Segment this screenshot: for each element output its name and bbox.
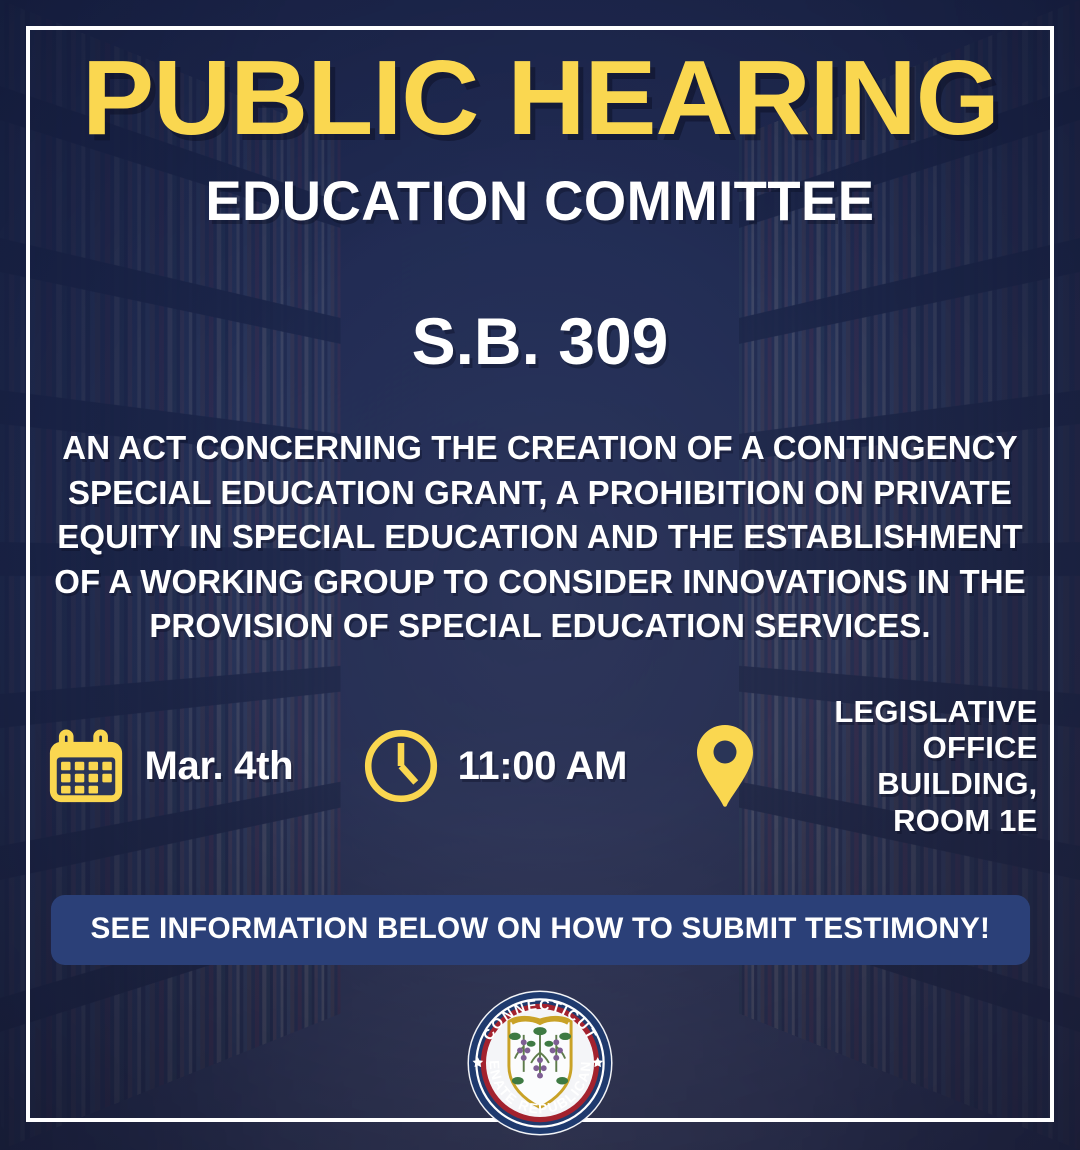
calendar-icon [43, 723, 129, 809]
event-date: Mar. 4th [43, 723, 294, 809]
seal-graphic: CONNECTICUT SENATE REPUBLICANS [466, 989, 614, 1137]
bill-description: AN ACT CONCERNING THE CREATION OF A CONT… [48, 427, 1033, 650]
event-time-value: 11:00 AM [458, 744, 628, 789]
event-time: 11:00 AM [360, 725, 628, 807]
testimony-banner: SEE INFORMATION BELOW ON HOW TO SUBMIT T… [51, 895, 1030, 965]
page-title: PUBLIC HEARING [82, 44, 999, 152]
event-location-value: LEGISLATIVE OFFICE BUILDING, ROOM 1E [772, 694, 1038, 839]
event-location: LEGISLATIVE OFFICE BUILDING, ROOM 1E [694, 694, 1038, 839]
bill-number: S.B. 309 [412, 303, 669, 379]
ct-senate-republicans-seal: CONNECTICUT SENATE REPUBLICANS [466, 989, 614, 1142]
committee-subtitle: EDUCATION COMMITTEE [205, 168, 874, 233]
event-date-value: Mar. 4th [145, 744, 294, 789]
clock-icon [360, 725, 442, 807]
public-hearing-poster: PUBLIC HEARING EDUCATION COMMITTEE S.B. … [0, 0, 1080, 1150]
poster-content: PUBLIC HEARING EDUCATION COMMITTEE S.B. … [0, 0, 1080, 1150]
event-details-row: Mar. 4th 11:00 AM LEGISLATIVE OFFICE BUI… [43, 694, 1038, 839]
map-pin-icon [694, 723, 756, 809]
